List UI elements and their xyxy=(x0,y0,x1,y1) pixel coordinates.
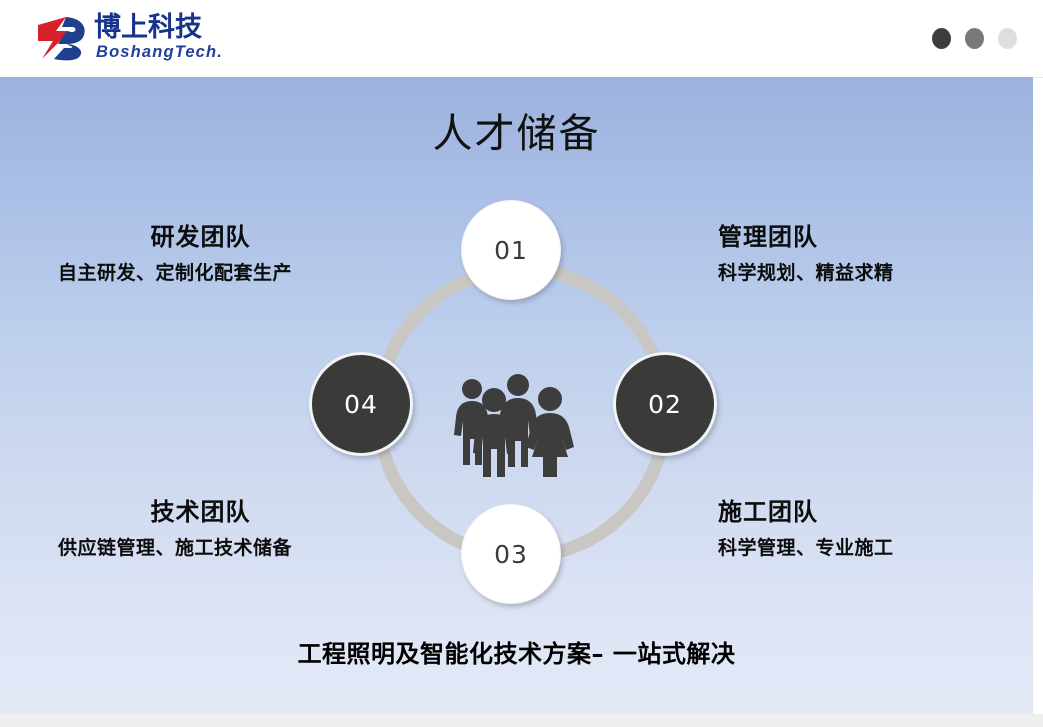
dot-dark-icon xyxy=(932,28,951,49)
cycle-node-04[interactable]: 04 xyxy=(309,352,413,456)
cycle-node-02-label: 02 xyxy=(648,390,682,419)
quadrant-construction-heading: 施工团队 xyxy=(718,497,1043,527)
page-bottom-strip xyxy=(0,714,1043,727)
quadrant-construction: 施工团队 科学管理、专业施工 xyxy=(718,497,1043,560)
cycle-node-02[interactable]: 02 xyxy=(613,352,717,456)
dot-medium-icon xyxy=(965,28,984,49)
quadrant-management-subtitle: 科学规划、精益求精 xyxy=(718,261,1043,285)
quadrant-rd-heading: 研发团队 xyxy=(58,222,343,252)
cycle-diagram: 01 02 03 04 xyxy=(322,213,712,603)
quadrant-technology-heading: 技术团队 xyxy=(58,497,343,527)
slide-tagline: 工程照明及智能化技术方案– 一站式解决 xyxy=(0,634,1033,669)
slide-header: 博上科技 BoshangTech. xyxy=(0,0,1043,78)
logo-text-english: BoshangTech. xyxy=(96,42,223,61)
cycle-node-03[interactable]: 03 xyxy=(461,504,561,604)
quadrant-construction-subtitle: 科学管理、专业施工 xyxy=(718,536,1043,560)
quadrant-management-heading: 管理团队 xyxy=(718,222,1043,252)
people-group-icon xyxy=(446,373,586,478)
company-logo: 博上科技 BoshangTech. xyxy=(36,13,246,65)
cycle-node-01-label: 01 xyxy=(494,236,528,265)
quadrant-management: 管理团队 科学规划、精益求精 xyxy=(718,222,1043,285)
presentation-slide: 博上科技 BoshangTech. 人才储备 研发团队 自主研发、定制化配套生产… xyxy=(0,0,1043,714)
slide-title: 人才储备 xyxy=(0,101,1033,159)
cycle-node-03-label: 03 xyxy=(494,540,528,569)
slide-content: 人才储备 研发团队 自主研发、定制化配套生产 管理团队 科学规划、精益求精 技术… xyxy=(0,77,1033,714)
logo-mark-icon xyxy=(36,15,88,61)
cycle-node-01[interactable]: 01 xyxy=(461,200,561,300)
header-dot-group xyxy=(932,28,1017,49)
cycle-node-04-label: 04 xyxy=(344,390,378,419)
dot-light-icon xyxy=(998,28,1017,49)
logo-text-chinese: 博上科技 xyxy=(94,13,202,43)
